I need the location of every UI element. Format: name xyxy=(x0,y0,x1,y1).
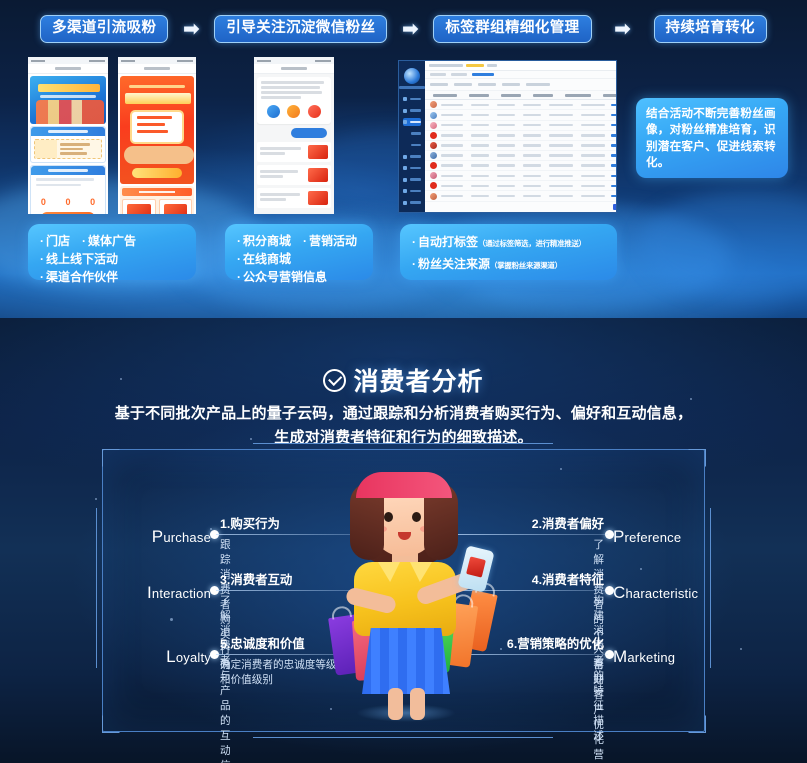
flow-arrow-3-icon: ➡ xyxy=(592,20,654,39)
feature-title: 3.消费者互动 xyxy=(220,570,292,588)
bullet-text: 粉丝关注来源 xyxy=(418,257,490,271)
signin-hero-banner xyxy=(120,76,194,184)
bullet-text: 营销活动 xyxy=(309,234,357,248)
frame-edge-bottom xyxy=(253,737,553,738)
bullet-text: 自动打标签 xyxy=(418,235,478,249)
flow-step-3[interactable]: 标签群组精细化管理 xyxy=(433,15,591,44)
eye-left xyxy=(384,512,393,522)
signin-cta-button[interactable] xyxy=(132,168,182,178)
article-row[interactable] xyxy=(257,142,331,162)
flow-step-4[interactable]: 持续培育转化 xyxy=(654,15,767,44)
top-funnel-section: 多渠道引流吸粉 ➡ 引导关注沉淀微信粉丝 ➡ 标签群组精细化管理 ➡ 持续培育转… xyxy=(0,0,807,318)
table-row[interactable] xyxy=(425,141,617,151)
feature-title: 1.购买行为 xyxy=(220,514,280,532)
bullet-text: 公众号营销信息 xyxy=(243,270,327,284)
bullet-text: 线上线下活动 xyxy=(46,252,118,266)
sidebar-item-active[interactable] xyxy=(403,118,421,126)
bullet-dot-icon: · xyxy=(40,234,44,248)
campaign-hero-banner xyxy=(30,76,106,124)
bullet-text: 媒体广告 xyxy=(88,234,136,248)
feature-eng-label: Marketing xyxy=(613,647,675,667)
feature-eng-label: Purchase xyxy=(152,527,211,547)
bullet-dot-icon: · xyxy=(237,252,241,266)
table-row[interactable] xyxy=(425,110,617,120)
gift-grid-section xyxy=(120,186,194,214)
dashboard-filters[interactable] xyxy=(425,79,617,90)
bullet-line: ·自动打标签（通过标签筛选，进行精准推送） xyxy=(412,232,605,254)
sidebar-item[interactable] xyxy=(403,95,421,103)
chat-thread xyxy=(254,74,334,214)
screenshot-admin-fans-dashboard xyxy=(398,60,617,213)
flow-arrow-2-icon: ➡ xyxy=(387,20,433,39)
service-icon[interactable] xyxy=(267,105,280,118)
section-title: 消费者分析 xyxy=(0,362,807,398)
feature-eng-label: Preference xyxy=(613,527,681,547)
feature-eng-label: Loyalty xyxy=(166,647,211,667)
phone-nav-bar xyxy=(254,64,334,74)
gallery-icon[interactable] xyxy=(287,105,300,118)
feature-title: 6.营销策略的优化 xyxy=(507,634,604,652)
eye-right xyxy=(412,512,421,522)
headband xyxy=(356,472,452,498)
bullet-line: ·公众号营销信息 xyxy=(237,268,361,286)
frame-corner-bottom-left-icon xyxy=(102,715,119,732)
bullet-text: 积分商城 xyxy=(243,234,291,248)
bullet-text: 在线商城 xyxy=(243,252,291,266)
feature-eng-label: Characteristic xyxy=(613,583,698,603)
shopping-woman-illustration xyxy=(316,468,492,720)
feature-title: 4.消费者特征 xyxy=(532,570,604,588)
sidebar-item[interactable] xyxy=(403,187,421,195)
bullet-note: （掌握粉丝来源渠道） xyxy=(490,261,562,270)
sidebar-subitem[interactable] xyxy=(403,130,421,138)
insight-callout: 结合活动不断完善粉丝画像，对粉丝精准培育，识别潜在客户、促进线索转化。 xyxy=(636,98,788,178)
feature-eng-label: Interaction xyxy=(147,583,211,603)
frame-corner-top-right-icon xyxy=(688,449,705,466)
blue-skirt xyxy=(362,628,450,694)
table-header xyxy=(425,91,617,101)
brand-logo-icon xyxy=(404,68,420,84)
dashboard-breadcrumb xyxy=(425,61,617,71)
bullet-text: 渠道合作伙伴 xyxy=(46,270,118,284)
feature-title: 5.忠诚度和价值 xyxy=(220,634,305,652)
frame-edge-left xyxy=(96,508,97,668)
bullet-line: ·线上线下活动 xyxy=(40,250,184,268)
table-row[interactable] xyxy=(425,131,617,141)
table-row[interactable] xyxy=(425,191,617,201)
feature-title: 2.消费者偏好 xyxy=(532,514,604,532)
table-row[interactable] xyxy=(425,121,617,131)
phone-status-bar xyxy=(254,57,334,64)
phone-status-bar xyxy=(28,57,108,64)
sidebar-item[interactable] xyxy=(403,164,421,172)
sidebar-item[interactable] xyxy=(403,153,421,161)
flow-arrow-1-icon: ➡ xyxy=(168,20,214,39)
flow-step-2[interactable]: 引导关注沉淀微信粉丝 xyxy=(214,15,387,44)
sidebar-item[interactable] xyxy=(403,176,421,184)
article-row[interactable] xyxy=(257,165,331,185)
screenshot-campaign-mobile: 000 xyxy=(28,57,108,214)
reply-button[interactable] xyxy=(291,128,327,138)
bullet-line: ·积分商城·营销活动 xyxy=(237,232,361,250)
bullet-line: ·渠道合作伙伴 xyxy=(40,268,184,286)
bullet-dot-icon: · xyxy=(303,234,307,248)
dashboard-tabs[interactable] xyxy=(425,71,617,80)
phone-nav-bar xyxy=(28,64,108,74)
phone-nav-bar xyxy=(118,64,196,74)
leg-left xyxy=(388,688,403,720)
feature-sub: 帮助客户优化营销策略 xyxy=(593,658,604,763)
bullet-line: ·粉丝关注来源（掌握粉丝来源渠道） xyxy=(412,254,605,276)
bullet-dot-icon: · xyxy=(40,252,44,266)
table-row[interactable] xyxy=(425,151,617,161)
hot-icon[interactable] xyxy=(308,105,321,118)
bullet-box-channels: ·门店·媒体广告 ·线上线下活动 ·渠道合作伙伴 xyxy=(28,224,196,280)
frame-corner-bottom-right-icon xyxy=(688,715,705,732)
screenshot-signin-gift-mobile xyxy=(118,57,196,214)
bullet-dot-icon: · xyxy=(82,234,86,248)
funnel-flow: 多渠道引流吸粉 ➡ 引导关注沉淀微信粉丝 ➡ 标签群组精细化管理 ➡ 持续培育转… xyxy=(0,8,807,50)
table-row[interactable] xyxy=(425,181,617,191)
bullet-dot-icon: · xyxy=(237,234,241,248)
sidebar-subitem[interactable] xyxy=(403,141,421,149)
check-circle-icon xyxy=(323,369,346,392)
bullet-dot-icon: · xyxy=(412,257,416,271)
leg-right xyxy=(410,688,425,720)
bullet-dot-icon: · xyxy=(237,270,241,284)
table-pagination[interactable] xyxy=(425,202,617,212)
gift-card[interactable] xyxy=(122,199,156,214)
bullet-line: ·在线商城 xyxy=(237,250,361,268)
join-button[interactable] xyxy=(41,212,95,214)
gift-card[interactable] xyxy=(159,199,193,214)
infographic-page: 多渠道引流吸粉 ➡ 引导关注沉淀微信粉丝 ➡ 标签群组精细化管理 ➡ 持续培育转… xyxy=(0,0,807,763)
flow-step-1[interactable]: 多渠道引流吸粉 xyxy=(40,15,168,44)
dashboard-sidebar xyxy=(399,61,425,212)
frame-edge-top xyxy=(253,443,553,444)
bullet-dot-icon: · xyxy=(40,270,44,284)
table-row[interactable] xyxy=(425,161,617,171)
bullet-line: ·门店·媒体广告 xyxy=(40,232,184,250)
sidebar-item[interactable] xyxy=(403,199,421,207)
bullet-text: 门店 xyxy=(46,234,70,248)
section-title-text: 消费者分析 xyxy=(353,362,483,398)
chat-bubble xyxy=(257,77,331,124)
bullet-note: （通过标签筛选，进行精准推送） xyxy=(478,239,586,248)
phone-status-bar xyxy=(118,57,196,64)
bullet-box-engagement: ·积分商城·营销活动 ·在线商城 ·公众号营销信息 xyxy=(225,224,373,280)
frame-corner-top-left-icon xyxy=(102,449,119,466)
article-row[interactable] xyxy=(257,188,331,208)
bullet-dot-icon: · xyxy=(412,235,416,249)
table-row[interactable] xyxy=(425,171,617,181)
table-row[interactable] xyxy=(425,100,617,110)
coupon-card xyxy=(30,126,106,163)
bullet-box-tagging: ·自动打标签（通过标签筛选，进行精准推送） ·粉丝关注来源（掌握粉丝来源渠道） xyxy=(400,224,617,280)
screenshot-official-account-chat xyxy=(254,57,334,214)
frame-edge-right xyxy=(710,508,711,668)
sidebar-item[interactable] xyxy=(403,210,421,213)
points-card: 000 xyxy=(30,165,106,214)
sidebar-item[interactable] xyxy=(403,107,421,115)
